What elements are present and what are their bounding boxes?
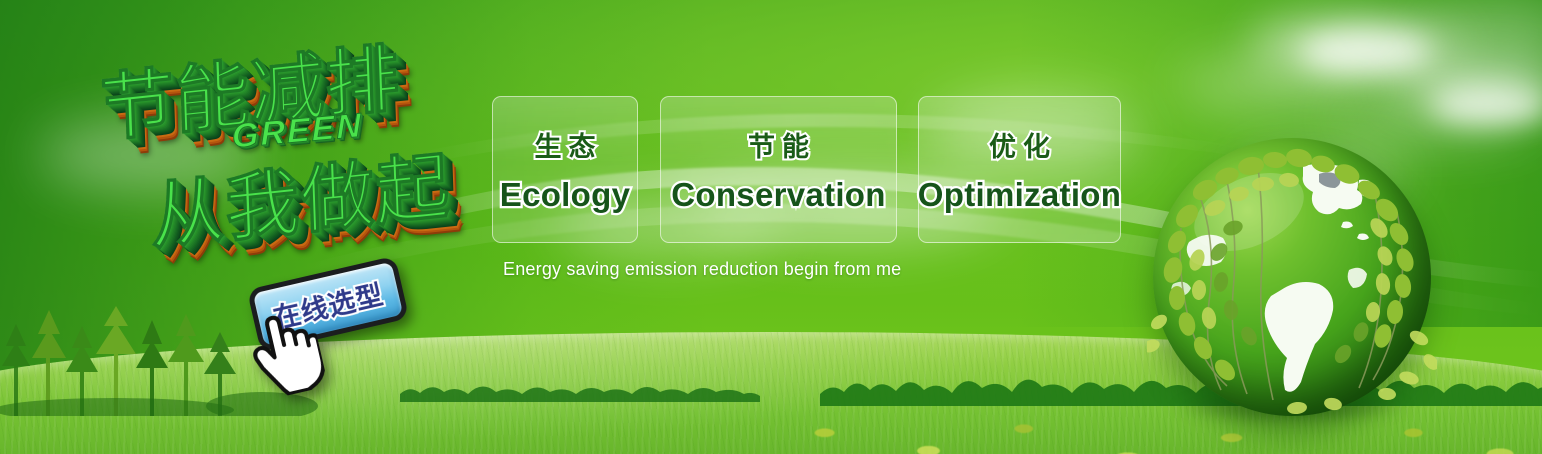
title-line-2: 从我做起	[148, 126, 452, 264]
feature-card-ecology[interactable]: 生态 Ecology	[492, 96, 638, 243]
green-energy-banner: 节能减排 GREEN 从我做起 在线选型 生态 Ecology 节能 Conse…	[0, 0, 1542, 454]
feature-card-en-label: Conservation	[671, 176, 885, 214]
feature-card-optimization[interactable]: 优化 Optimization	[918, 96, 1121, 243]
mid-treeline-icon	[400, 376, 760, 402]
feature-card-cn-label: 节能	[741, 125, 816, 164]
feature-card-en-label: Ecology	[500, 176, 630, 214]
globe-continents	[1153, 138, 1431, 416]
leafy-earth-globe-icon	[1153, 138, 1431, 416]
title-art-3d: 节能减排 GREEN 从我做起	[92, 34, 502, 274]
banner-subtitle: Energy saving emission reduction begin f…	[503, 259, 901, 280]
globe-sphere	[1153, 138, 1431, 416]
feature-card-cn-label: 优化	[982, 125, 1057, 164]
feature-card-en-label: Optimization	[918, 176, 1121, 214]
feature-card-cn-label: 生态	[528, 125, 603, 164]
feature-card-conservation[interactable]: 节能 Conservation	[660, 96, 897, 243]
